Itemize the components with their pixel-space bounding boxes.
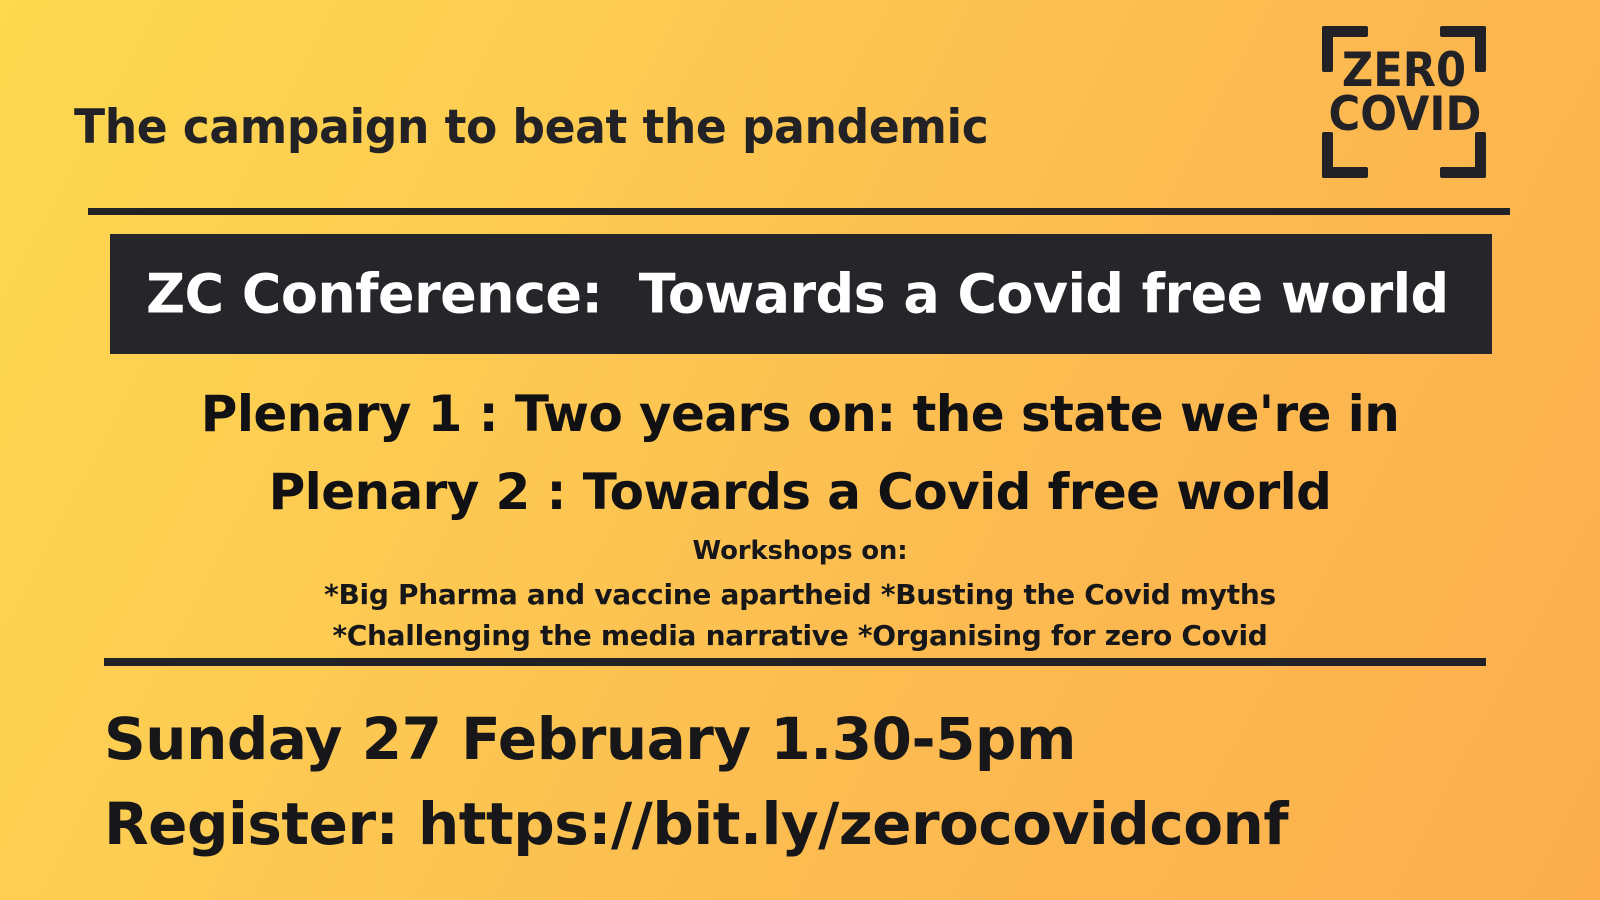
conference-title: ZC Conference: Towards a Covid free worl… bbox=[146, 263, 1449, 326]
divider-top bbox=[88, 208, 1510, 215]
logo-line-covid: COVID bbox=[1329, 93, 1480, 137]
conference-banner: ZC Conference: Towards a Covid free worl… bbox=[110, 234, 1492, 354]
event-poster: ZER0 COVID The campaign to beat the pand… bbox=[0, 0, 1600, 900]
logo-wordmark: ZER0 COVID bbox=[1322, 49, 1486, 136]
registration-link[interactable]: Register: https://bit.ly/zerocovidconf bbox=[104, 790, 1288, 858]
divider-bottom bbox=[104, 658, 1486, 666]
event-date: Sunday 27 February 1.30-5pm bbox=[104, 705, 1076, 773]
workshops-block: Workshops on: *Big Pharma and vaccine ap… bbox=[0, 536, 1600, 657]
workshop-line: *Challenging the media narrative *Organi… bbox=[0, 615, 1600, 656]
zero-covid-logo: ZER0 COVID bbox=[1322, 26, 1486, 178]
workshop-line: *Big Pharma and vaccine apartheid *Busti… bbox=[0, 574, 1600, 615]
workshops-heading: Workshops on: bbox=[0, 536, 1600, 566]
plenary-2: Plenary 2 : Towards a Covid free world bbox=[0, 463, 1600, 521]
plenary-1: Plenary 1 : Two years on: the state we'r… bbox=[0, 385, 1600, 443]
campaign-headline: The campaign to beat the pandemic bbox=[74, 100, 988, 155]
